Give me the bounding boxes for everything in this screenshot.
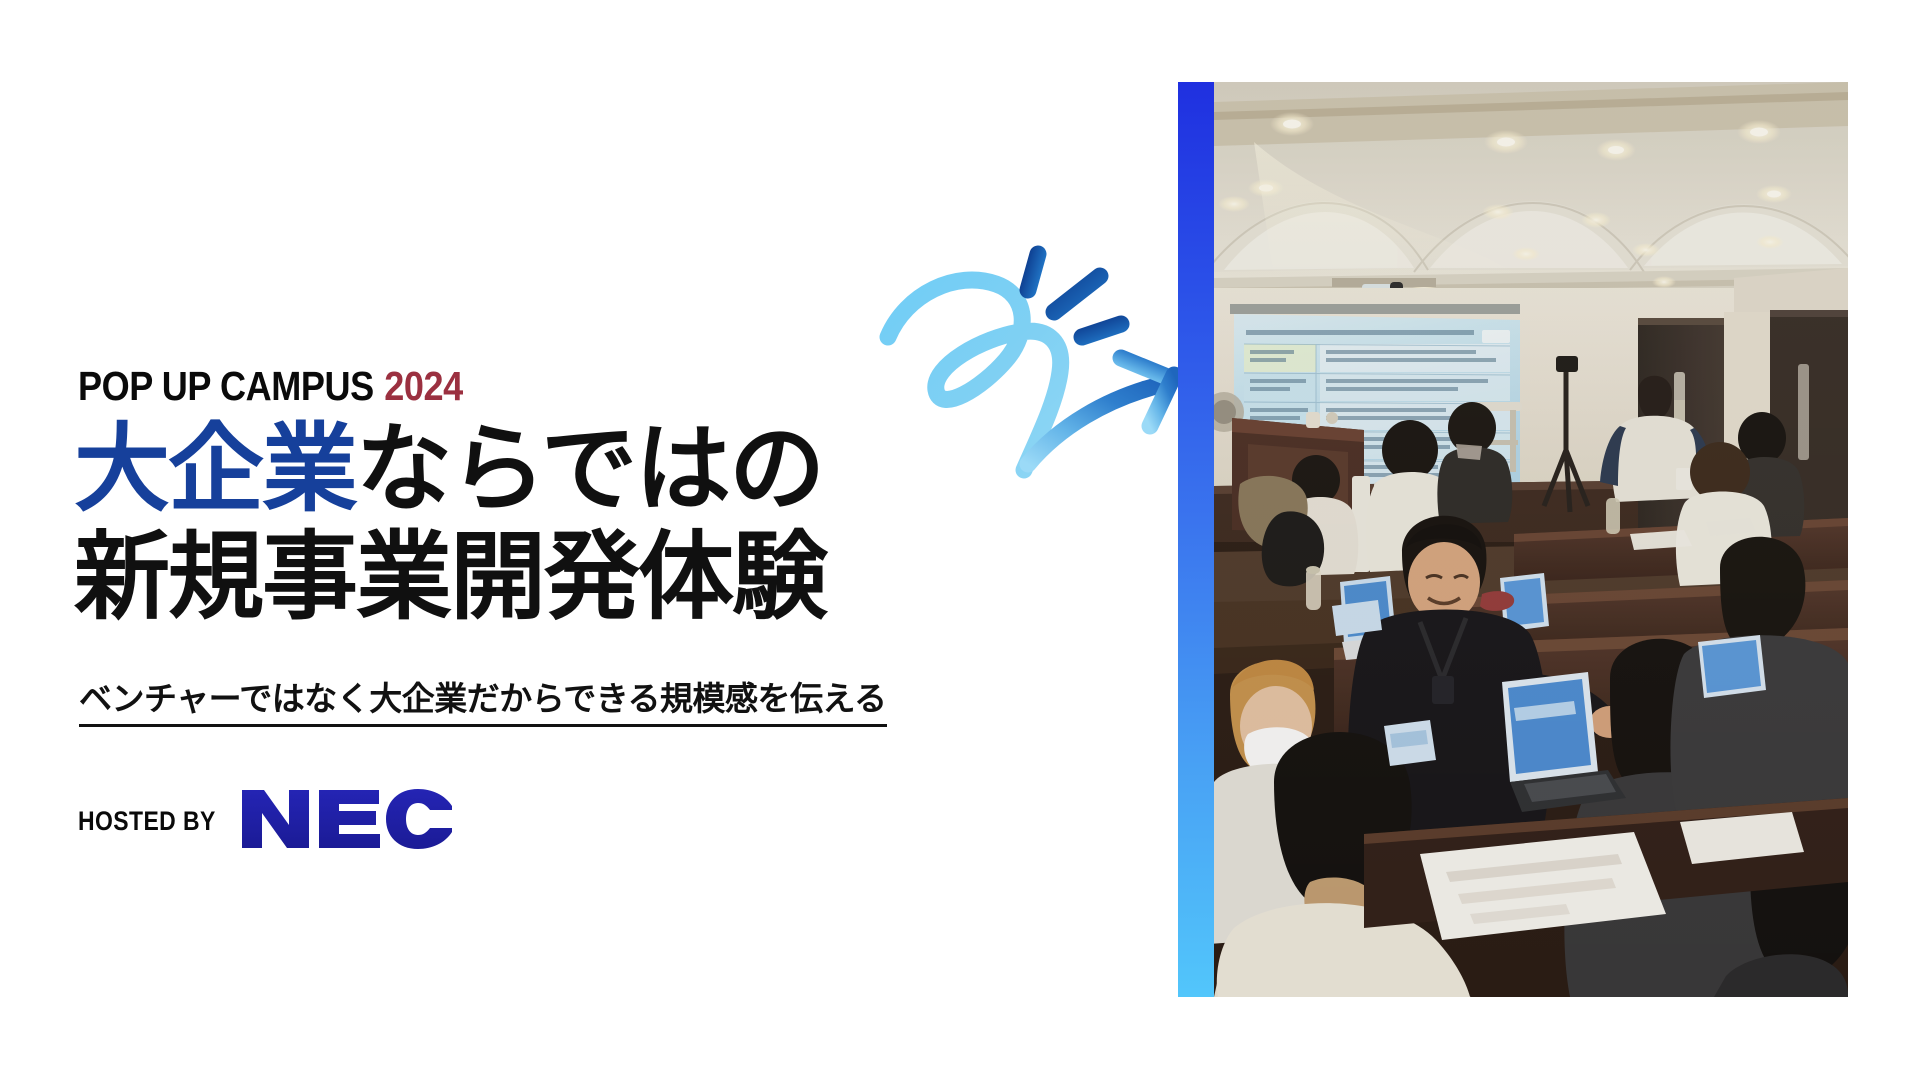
poster-text-column: POP UP CAMPUS2024 大企業ならではの 新規事業開発体験 ベンチャ… xyxy=(78,0,1098,1080)
poster-canvas: POP UP CAMPUS2024 大企業ならではの 新規事業開発体験 ベンチャ… xyxy=(0,0,1920,1080)
growth-arrow-doodle xyxy=(878,232,1208,482)
headline-line-1: 大企業ならではの xyxy=(74,418,826,522)
program-eyebrow: POP UP CAMPUS2024 xyxy=(78,366,463,407)
program-name: POP UP CAMPUS xyxy=(78,363,374,409)
nec-logo xyxy=(240,786,455,857)
hosted-by-row: HOSTED BY xyxy=(78,786,455,857)
photo-accent-bar xyxy=(1178,82,1214,997)
classroom-workshop-photo: 大学教室で机を囲みノートPCを使って話し合う参加者たち xyxy=(1214,82,1848,997)
headline-line-2: 新規事業開発体験 xyxy=(74,526,826,630)
page-title: 大企業ならではの 新規事業開発体験 xyxy=(74,418,826,629)
photo-block: 大学教室で机を囲みノートPCを使って話し合う参加者たち xyxy=(1178,82,1848,997)
headline-line-1-rest: ならではの xyxy=(356,413,823,525)
subtitle: ベンチャーではなく大企業だからできる規模感を伝える xyxy=(79,672,887,727)
program-year: 2024 xyxy=(384,363,463,409)
hosted-by-label: HOSTED BY xyxy=(78,806,216,837)
headline-highlight: 大企業 xyxy=(74,413,356,525)
spark-dashes xyxy=(1028,254,1121,337)
